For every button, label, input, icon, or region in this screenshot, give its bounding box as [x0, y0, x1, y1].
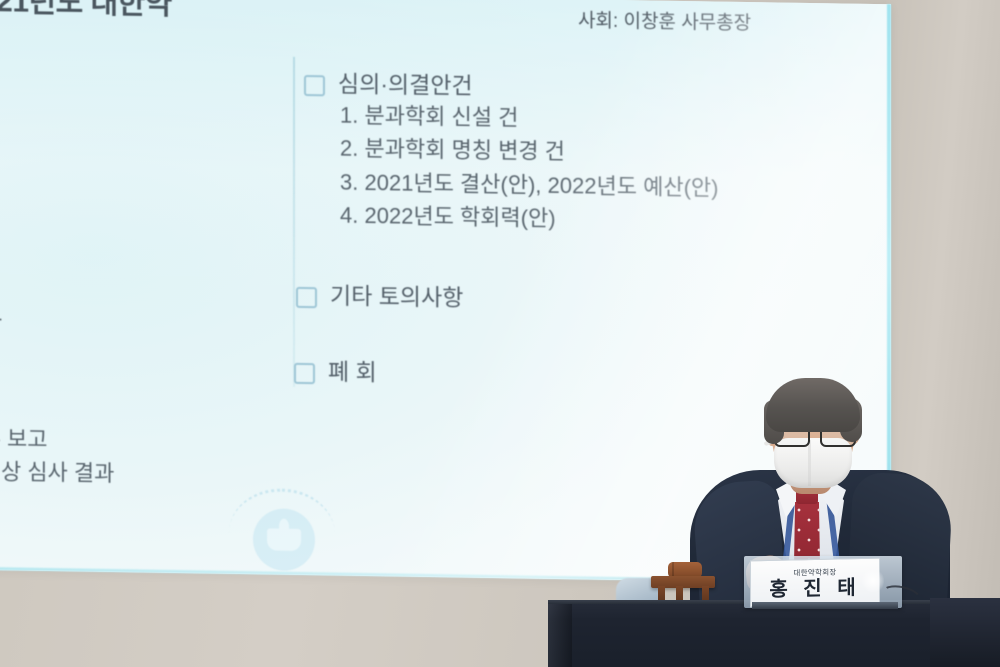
left-column-line: 장)인사 [0, 304, 2, 338]
agenda-item: 4. 2022년도 학회력(안) [340, 199, 719, 238]
agenda-item: 2. 분과학회 명칭 변경 건 [340, 132, 719, 171]
slide-title: 021년도 대한약 [0, 0, 172, 23]
nameplate: 대한약학회장 홍 진 태 [750, 558, 880, 608]
checkbox-icon [296, 287, 317, 308]
agenda-section-heading: 심의·의결안건 [338, 70, 473, 101]
nameplate-base [752, 602, 898, 609]
agenda-section-heading-row: 폐 회 [294, 357, 377, 387]
agenda-section-heading: 기타 토의사항 [330, 281, 463, 312]
slide-left-column-lower: 요 회무 보고 한약학회상 심사 결과 [0, 421, 114, 490]
agenda-section-heading: 폐 회 [328, 357, 377, 387]
agenda-section-heading-row: 기타 토의사항 [296, 281, 463, 312]
slide-vertical-divider [293, 57, 295, 387]
agenda-section-deliberation: 심의·의결안건 1. 분과학회 신설 건 2. 분과학회 명칭 변경 건 3. … [304, 69, 719, 238]
nameplate-person-name: 홍 진 태 [769, 578, 860, 600]
checkbox-icon [294, 363, 315, 384]
checkbox-icon [304, 75, 325, 96]
agenda-section-other-discussion: 기타 토의사항 [296, 281, 463, 312]
slide-host-label: 사회: 이창훈 사무총장 [578, 5, 751, 35]
left-column-line: 한약학회상 심사 결과 [0, 454, 114, 490]
left-column-line: 요 회무 보고 [0, 421, 114, 457]
table-right-drape [930, 598, 1000, 667]
conference-photo-scene: 021년도 대한약 사회: 이창훈 사무총장 장)인사 요 회무 보고 한약학회… [0, 0, 1000, 667]
society-crest-watermark-icon [229, 488, 335, 576]
table-skirt-fold [548, 604, 572, 667]
agenda-section-adjournment: 폐 회 [294, 357, 377, 387]
nameplate-organization-title: 대한약학회장 [793, 566, 836, 578]
hair [766, 378, 860, 432]
slide-left-column: 장)인사 [0, 304, 2, 338]
